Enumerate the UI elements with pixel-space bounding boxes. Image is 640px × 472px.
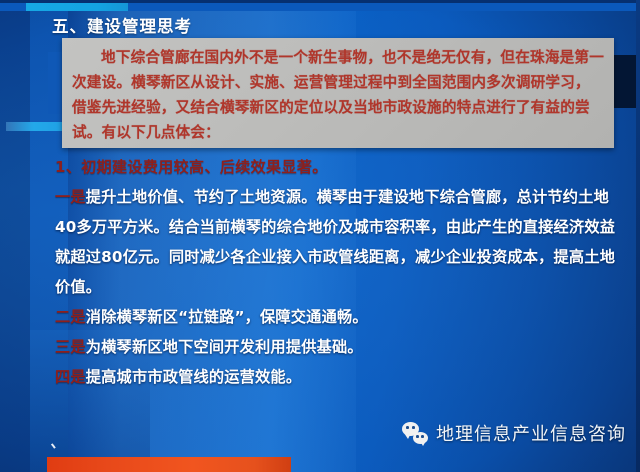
- body-content: 1、初期建设费用较高、后续效果显著。 一是提升土地价值、节约了土地资源。横琴由于…: [55, 152, 627, 392]
- list-item: 四是提高城市市政管线的运营效能。: [55, 362, 627, 392]
- list-item-lead: 一是: [55, 188, 86, 206]
- list-item-lead: 二是: [55, 308, 86, 326]
- wechat-brand-label: 地理信息产业信息咨询: [436, 420, 626, 446]
- decorative-cyan-bar: [6, 122, 68, 131]
- list-item: 三是为横琴新区地下空间开发利用提供基础。: [55, 332, 627, 362]
- stray-tick-mark: 、: [50, 431, 68, 454]
- list-item-text: 提高城市市政管线的运营效能。: [86, 368, 301, 386]
- list-item-text: 消除横琴新区“拉链路”，保障交通通畅。: [86, 308, 368, 326]
- section-heading: 1、初期建设费用较高、后续效果显著。: [55, 152, 627, 182]
- bottom-orange-bar: [47, 457, 291, 472]
- wechat-footer: 地理信息产业信息咨询: [402, 420, 626, 446]
- list-item-text: 为横琴新区地下空间开发利用提供基础。: [86, 338, 363, 356]
- list-item-lead: 四是: [55, 368, 86, 386]
- right-edge-hairline: [636, 0, 640, 472]
- list-item-text: 提升土地价值、节约了土地资源。横琴由于建设地下综合管廊，总计节约土地40多万平方…: [55, 188, 615, 296]
- quote-box: 地下综合管廊在国内外不是一个新生事物，也不是绝无仅有，但在珠海是第一次建设。横琴…: [62, 38, 614, 148]
- wechat-icon: [402, 422, 428, 444]
- presentation-slide: 五、建设管理思考 地下综合管廊在国内外不是一个新生事物，也不是绝无仅有，但在珠海…: [0, 0, 640, 472]
- list-item-lead: 三是: [55, 338, 86, 356]
- top-hairline: [0, 0, 640, 3]
- list-item: 二是消除横琴新区“拉链路”，保障交通通畅。: [55, 302, 627, 332]
- quote-text: 地下综合管廊在国内外不是一个新生事物，也不是绝无仅有，但在珠海是第一次建设。横琴…: [72, 45, 604, 145]
- page-title: 五、建设管理思考: [52, 13, 192, 37]
- list-item: 一是提升土地价值、节约了土地资源。横琴由于建设地下综合管廊，总计节约土地40多万…: [55, 182, 627, 302]
